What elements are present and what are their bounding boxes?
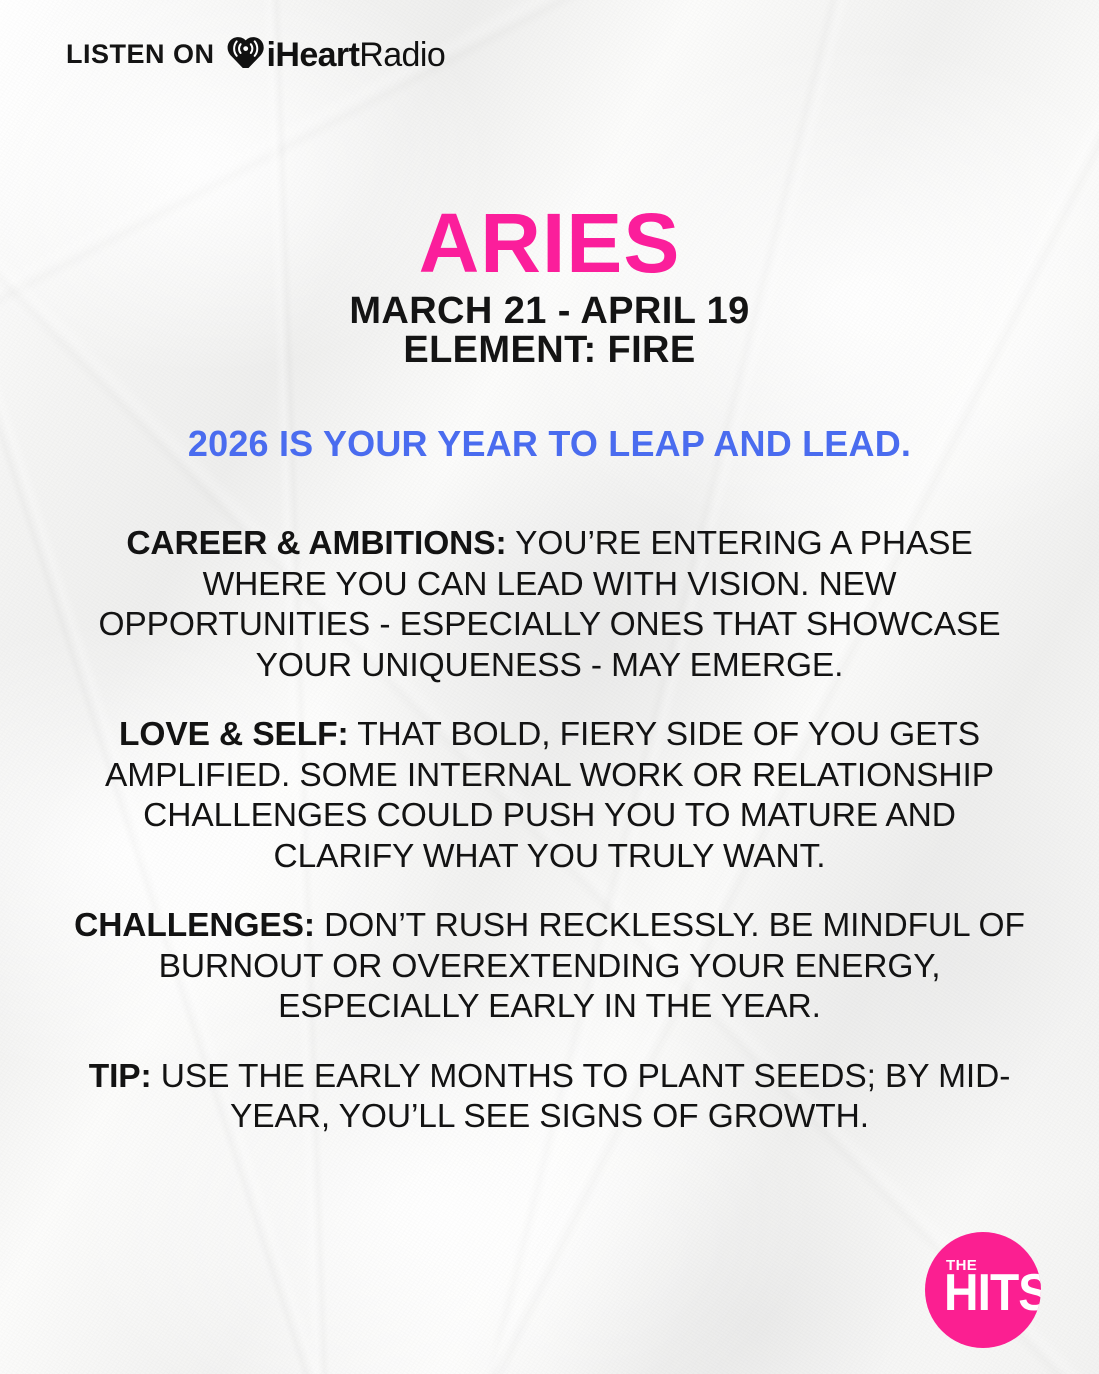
iheartradio-lockup: iHeartRadio bbox=[227, 36, 446, 73]
tagline-year: 2026 bbox=[188, 423, 269, 464]
listen-on-bar: LISTEN ON iHeartRadio bbox=[66, 36, 445, 73]
iheart-logo-icon bbox=[227, 36, 265, 73]
section-label: CAREER & AMBITIONS: bbox=[126, 525, 506, 562]
iheartradio-wordmark: iHeartRadio bbox=[267, 38, 446, 72]
listen-on-label: LISTEN ON bbox=[66, 39, 215, 70]
zodiac-date-range: MARCH 21 - APRIL 19 bbox=[0, 292, 1099, 332]
section-challenges: CHALLENGES: DON’T RUSH RECKLESSLY. BE MI… bbox=[70, 906, 1029, 1028]
year-tagline: 2026 IS YOUR YEAR TO LEAP AND LEAD. bbox=[0, 424, 1099, 464]
section-love-self: LOVE & SELF: THAT BOLD, FIERY SIDE OF YO… bbox=[70, 715, 1029, 877]
hits-logo-hits-text: HITS bbox=[944, 1267, 1041, 1319]
section-tip: TIP: USE THE EARLY MONTHS TO PLANT SEEDS… bbox=[70, 1057, 1029, 1138]
radio-light-text: Radio bbox=[359, 36, 445, 74]
the-hits-logo-icon: THE HITS bbox=[925, 1232, 1041, 1348]
section-career: CAREER & AMBITIONS: YOU’RE ENTERING A PH… bbox=[70, 524, 1029, 686]
tagline-emphasis: LEAP AND LEAD. bbox=[608, 423, 911, 464]
section-label: LOVE & SELF: bbox=[119, 716, 349, 753]
horoscope-body: CAREER & AMBITIONS: YOU’RE ENTERING A PH… bbox=[70, 524, 1029, 1138]
tagline-middle: IS YOUR YEAR TO bbox=[269, 423, 609, 464]
section-label: CHALLENGES: bbox=[74, 907, 315, 944]
zodiac-element: ELEMENT: FIRE bbox=[0, 331, 1099, 371]
section-text: USE THE EARLY MONTHS TO PLANT SEEDS; BY … bbox=[152, 1058, 1011, 1136]
zodiac-sign-title: ARIES bbox=[0, 204, 1099, 284]
section-label: TIP: bbox=[89, 1058, 152, 1095]
iheart-bold-text: iHeart bbox=[267, 36, 360, 74]
